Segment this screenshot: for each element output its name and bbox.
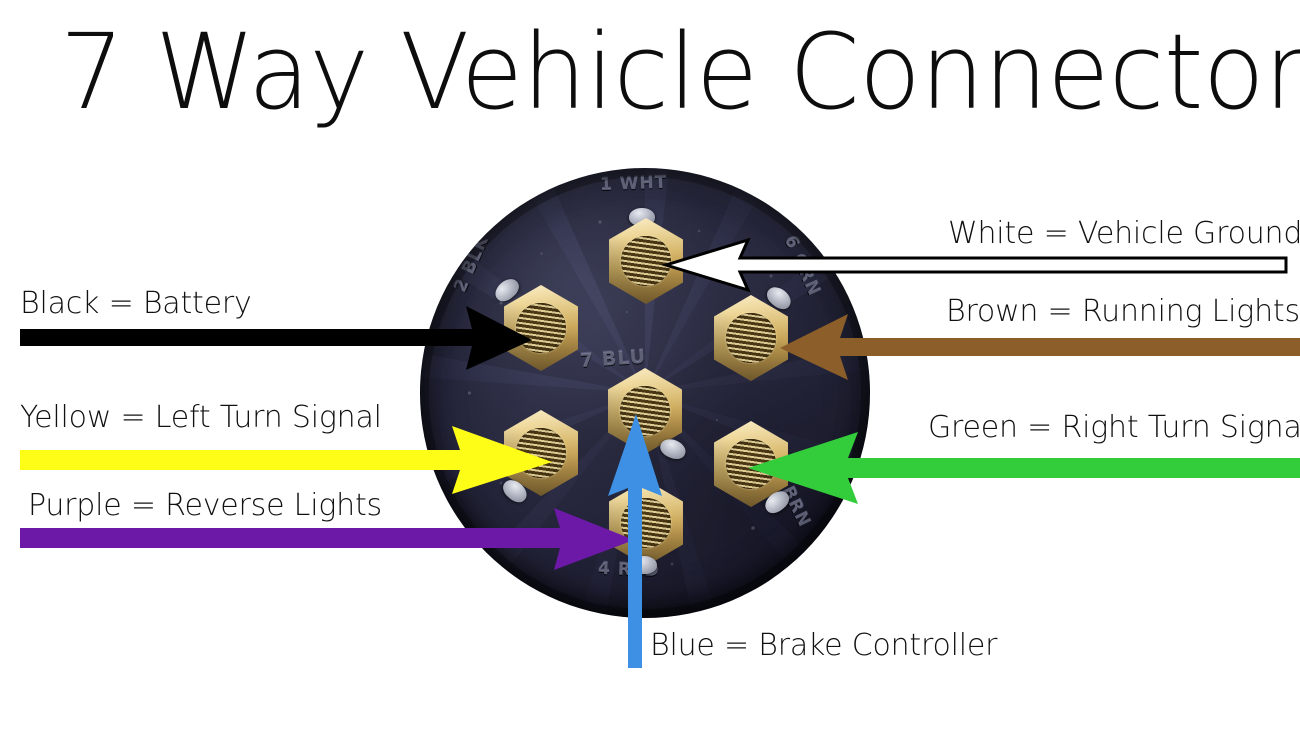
page-title: 7 Way Vehicle Connector — [60, 12, 1243, 132]
arrow-white — [650, 236, 1300, 294]
arrow-black — [0, 300, 540, 380]
arrow-green — [720, 428, 1300, 510]
diagram-canvas: 7 Way Vehicle Connector 1 WHT 2 BLK 6 GR… — [0, 0, 1300, 730]
arrow-brown — [770, 310, 1300, 390]
arrow-purple — [0, 504, 660, 574]
arrow-blue — [600, 400, 710, 680]
